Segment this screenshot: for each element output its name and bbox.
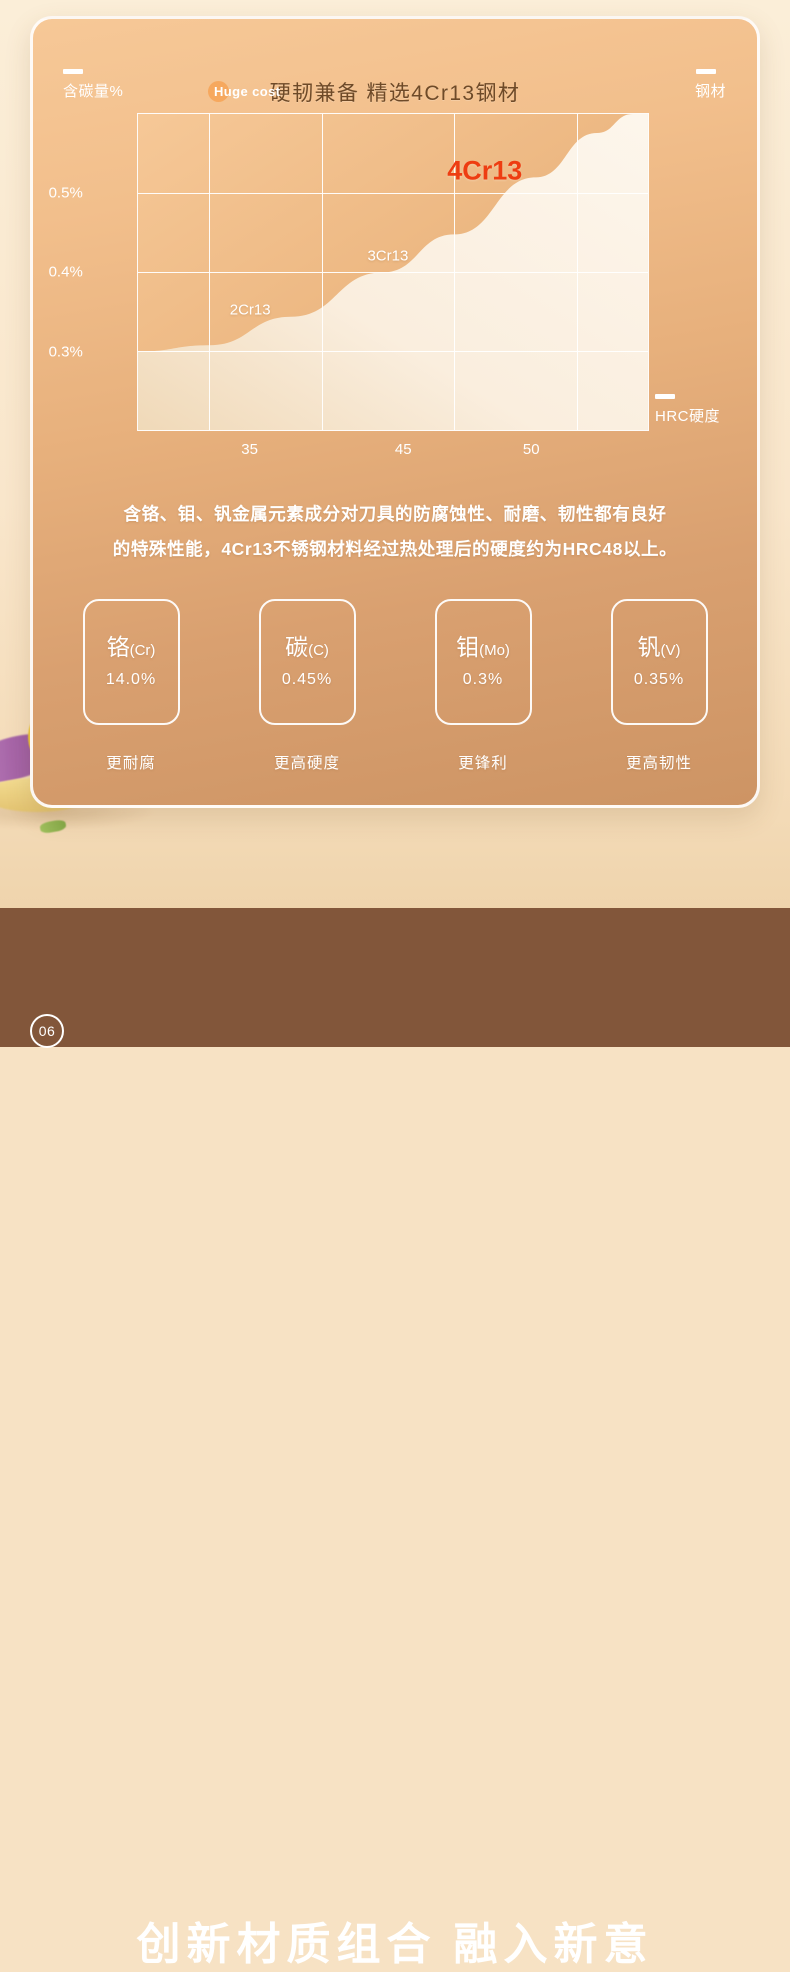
page-background: 含碳量% Huge cost 硬韧兼备 精选4Cr13钢材 钢材 0.5%0.4… bbox=[0, 0, 790, 1047]
gridline-horizontal bbox=[138, 272, 648, 273]
series-label-2cr13: 2Cr13 bbox=[230, 301, 271, 318]
section-number-badge: 06 bbox=[30, 1014, 64, 1048]
element-name-cn: 铬 bbox=[107, 634, 130, 660]
bottom-headline: 创新材质组合 融入新意 bbox=[0, 1908, 790, 1972]
y-axis-tick-label: 0.5% bbox=[49, 184, 93, 201]
carbon-hardness-chart: 2Cr133Cr134Cr13 bbox=[137, 113, 649, 431]
element-percent: 0.3% bbox=[463, 671, 503, 689]
x-axis-tag-label: HRC硬度 bbox=[655, 408, 720, 425]
gridline-vertical bbox=[322, 114, 323, 430]
element-name: 钒(V) bbox=[638, 636, 681, 659]
element-benefit: 更锋利 bbox=[458, 751, 508, 773]
element-card-list: 铬(Cr)14.0%更耐腐碳(C)0.45%更高硬度钼(Mo)0.3%更锋利钒(… bbox=[71, 599, 719, 773]
element-percent: 14.0% bbox=[106, 671, 156, 689]
element-symbol: (Cr) bbox=[130, 642, 156, 659]
series-label-4cr13: 4Cr13 bbox=[447, 155, 522, 186]
dash-icon bbox=[63, 69, 83, 74]
element-name: 钼(Mo) bbox=[456, 636, 510, 659]
y-axis-tick-label: 0.4% bbox=[49, 264, 93, 281]
chart-plot-area: 2Cr133Cr134Cr13 bbox=[137, 113, 649, 431]
element-benefit: 更高硬度 bbox=[274, 751, 340, 773]
element-percent: 0.45% bbox=[282, 671, 332, 689]
element-symbol: (V) bbox=[661, 642, 681, 659]
element-card-c[interactable]: 碳(C)0.45%更高硬度 bbox=[247, 599, 367, 773]
description-paragraph: 含铬、钼、钒金属元素成分对刀具的防腐蚀性、耐磨、韧性都有良好 的特殊性能，4Cr… bbox=[71, 497, 719, 567]
element-name-cn: 钼 bbox=[456, 634, 479, 660]
y-axis-ticks: 0.5%0.4%0.3% bbox=[33, 113, 137, 431]
x-axis-tag: HRC硬度 bbox=[655, 394, 720, 426]
steel-tag-label: 钢材 bbox=[695, 83, 726, 100]
series-label-3cr13: 3Cr13 bbox=[367, 248, 408, 265]
x-axis-ticks: 354550 bbox=[137, 441, 649, 465]
description-line-1: 含铬、钼、钒金属元素成分对刀具的防腐蚀性、耐磨、韧性都有良好 bbox=[71, 497, 719, 532]
element-box[interactable]: 钼(Mo)0.3% bbox=[435, 599, 532, 725]
element-card-mo[interactable]: 钼(Mo)0.3%更锋利 bbox=[423, 599, 543, 773]
element-box[interactable]: 钒(V)0.35% bbox=[611, 599, 708, 725]
x-axis-tick-label: 35 bbox=[241, 441, 258, 458]
element-symbol: (C) bbox=[308, 642, 329, 659]
gridline-horizontal bbox=[138, 351, 648, 352]
element-name-cn: 碳 bbox=[285, 634, 308, 660]
dash-icon bbox=[655, 394, 675, 399]
steel-tag: 钢材 bbox=[695, 69, 726, 101]
element-box[interactable]: 铬(Cr)14.0% bbox=[83, 599, 180, 725]
dash-icon bbox=[696, 69, 716, 74]
element-card-v[interactable]: 钒(V)0.35%更高韧性 bbox=[599, 599, 719, 773]
element-name: 碳(C) bbox=[285, 636, 329, 659]
element-benefit: 更耐腐 bbox=[106, 751, 156, 773]
bottom-section: 创新材质组合 融入新意 bbox=[0, 908, 790, 1047]
vegetable-slice-icon bbox=[39, 819, 67, 834]
y-axis-tick-label: 0.3% bbox=[49, 343, 93, 360]
gridline-horizontal bbox=[138, 193, 648, 194]
element-symbol: (Mo) bbox=[479, 642, 510, 659]
huge-cost-label: Huge cost bbox=[214, 84, 280, 99]
x-axis-tick-label: 45 bbox=[395, 441, 412, 458]
x-axis-tick-label: 50 bbox=[523, 441, 540, 458]
element-card-cr[interactable]: 铬(Cr)14.0%更耐腐 bbox=[71, 599, 191, 773]
gridline-vertical bbox=[209, 114, 210, 430]
element-benefit: 更高韧性 bbox=[626, 751, 692, 773]
page-title: 硬韧兼备 精选4Cr13钢材 bbox=[33, 77, 757, 107]
element-percent: 0.35% bbox=[634, 671, 684, 689]
steel-spec-card: 含碳量% Huge cost 硬韧兼备 精选4Cr13钢材 钢材 0.5%0.4… bbox=[30, 16, 760, 808]
element-name: 铬(Cr) bbox=[107, 636, 156, 659]
element-box[interactable]: 碳(C)0.45% bbox=[259, 599, 356, 725]
description-line-2: 的特殊性能，4Cr13不锈钢材料经过热处理后的硬度约为HRC48以上。 bbox=[71, 532, 719, 567]
element-name-cn: 钒 bbox=[638, 634, 661, 660]
gridline-vertical bbox=[577, 114, 578, 430]
